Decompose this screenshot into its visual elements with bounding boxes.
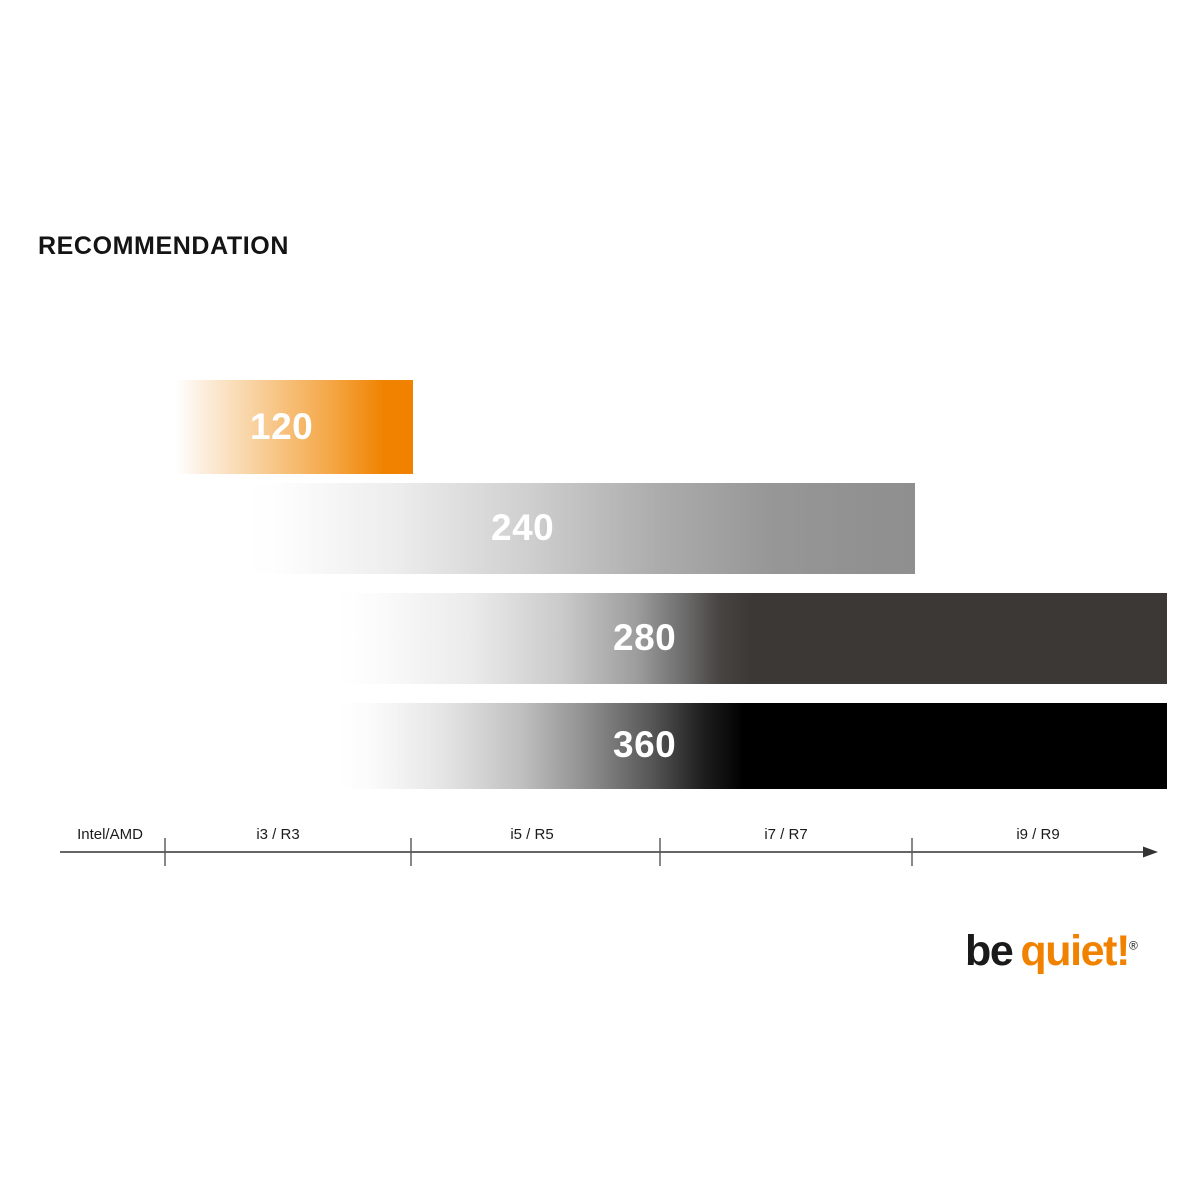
be-quiet-logo: bequiet!® [965,930,1138,973]
x-axis: Intel/AMD i3 / R3 i5 / R5 i7 / R7 i9 / R… [0,0,1200,1200]
registered-trademark-icon: ® [1129,939,1138,953]
chart-canvas: RECOMMENDATION 120 240 280 360 Inte [0,0,1200,1200]
axis-label-i7-r7: i7 / R7 [764,826,807,843]
axis-label-intel-amd: Intel/AMD [77,826,143,843]
axis-arrow-icon [1143,847,1158,858]
axis-label-i3-r3: i3 / R3 [256,826,299,843]
axis-label-i9-r9: i9 / R9 [1016,826,1059,843]
axis-label-i5-r5: i5 / R5 [510,826,553,843]
axis-svg [0,0,1200,1200]
logo-text-quiet: quiet! [1020,927,1129,975]
logo-text-be: be [965,927,1012,975]
